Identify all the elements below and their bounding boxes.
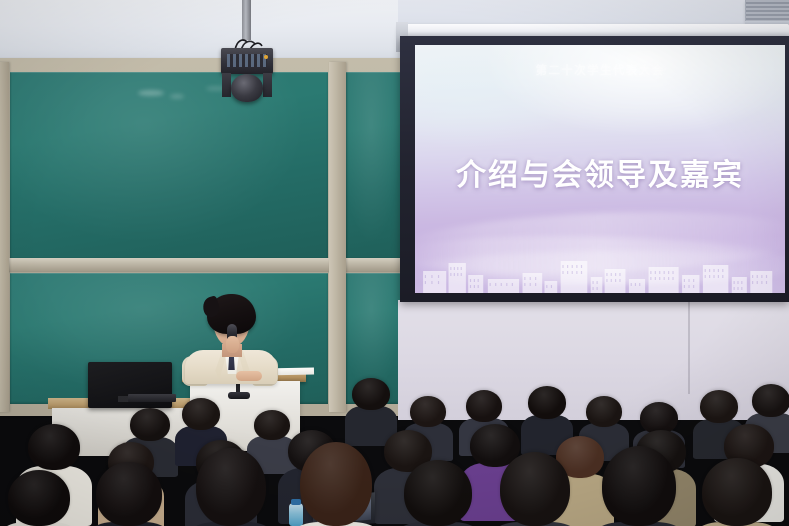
keyboard[interactable]	[128, 394, 176, 402]
camera-lens-icon	[231, 74, 263, 102]
slide-title-text: 介绍与会领导及嘉宾	[415, 150, 785, 194]
audience-member-head	[28, 424, 80, 470]
audience-member-head	[96, 462, 162, 526]
chalkboard-panel-upper-right	[346, 72, 406, 260]
audience-member-head	[602, 446, 676, 526]
camera-indicator-strip	[227, 54, 267, 67]
projection-screen: 第二十次学生代表大会 介绍与会领导及嘉宾	[415, 45, 785, 293]
chalkboard-rail-vertical-left	[0, 62, 9, 412]
audience-member-head	[254, 410, 290, 440]
chalkboard-rail-horizontal-left	[2, 258, 334, 271]
water-bottle-cap	[291, 499, 301, 505]
speaker-hand-on-podium	[236, 371, 262, 381]
camera-yoke-left	[222, 73, 231, 97]
audience-member-head	[410, 396, 446, 427]
audience-member-head	[466, 390, 502, 422]
audience-member-head	[528, 386, 566, 419]
chalkboard-rail-vertical-middle	[329, 62, 346, 412]
audience-member-head	[500, 452, 570, 526]
desk-microphone-base	[228, 392, 250, 399]
wall-seam	[688, 302, 690, 394]
campus-skyline-graphic	[415, 247, 785, 293]
slide-header-text: 第二十次学生代表大会	[415, 62, 785, 78]
audience-member-head	[700, 390, 738, 423]
camera-power-led-icon	[264, 55, 268, 59]
camera-mount-pole	[242, 0, 251, 40]
audience-member-head	[586, 396, 622, 427]
audience-member-head	[196, 448, 266, 526]
lecture-hall-photo: 第二十次学生代表大会 介绍与会领导及嘉宾	[0, 0, 789, 526]
audience-member-head	[352, 378, 390, 410]
audience-member-head	[182, 398, 220, 430]
camera-yoke-right	[263, 73, 272, 97]
audience-member-head	[752, 384, 789, 417]
audience-member-head	[702, 458, 772, 526]
speaker-hand-holding-mic	[226, 336, 239, 353]
air-conditioner-vent-icon	[745, 0, 789, 22]
chalkboard-panel-upper-left	[10, 72, 328, 260]
water-bottle	[289, 503, 303, 526]
audience-member-head	[8, 470, 70, 526]
audience-member-head	[300, 442, 372, 526]
audience-member-head	[404, 460, 472, 526]
audience-member-head	[130, 408, 170, 441]
